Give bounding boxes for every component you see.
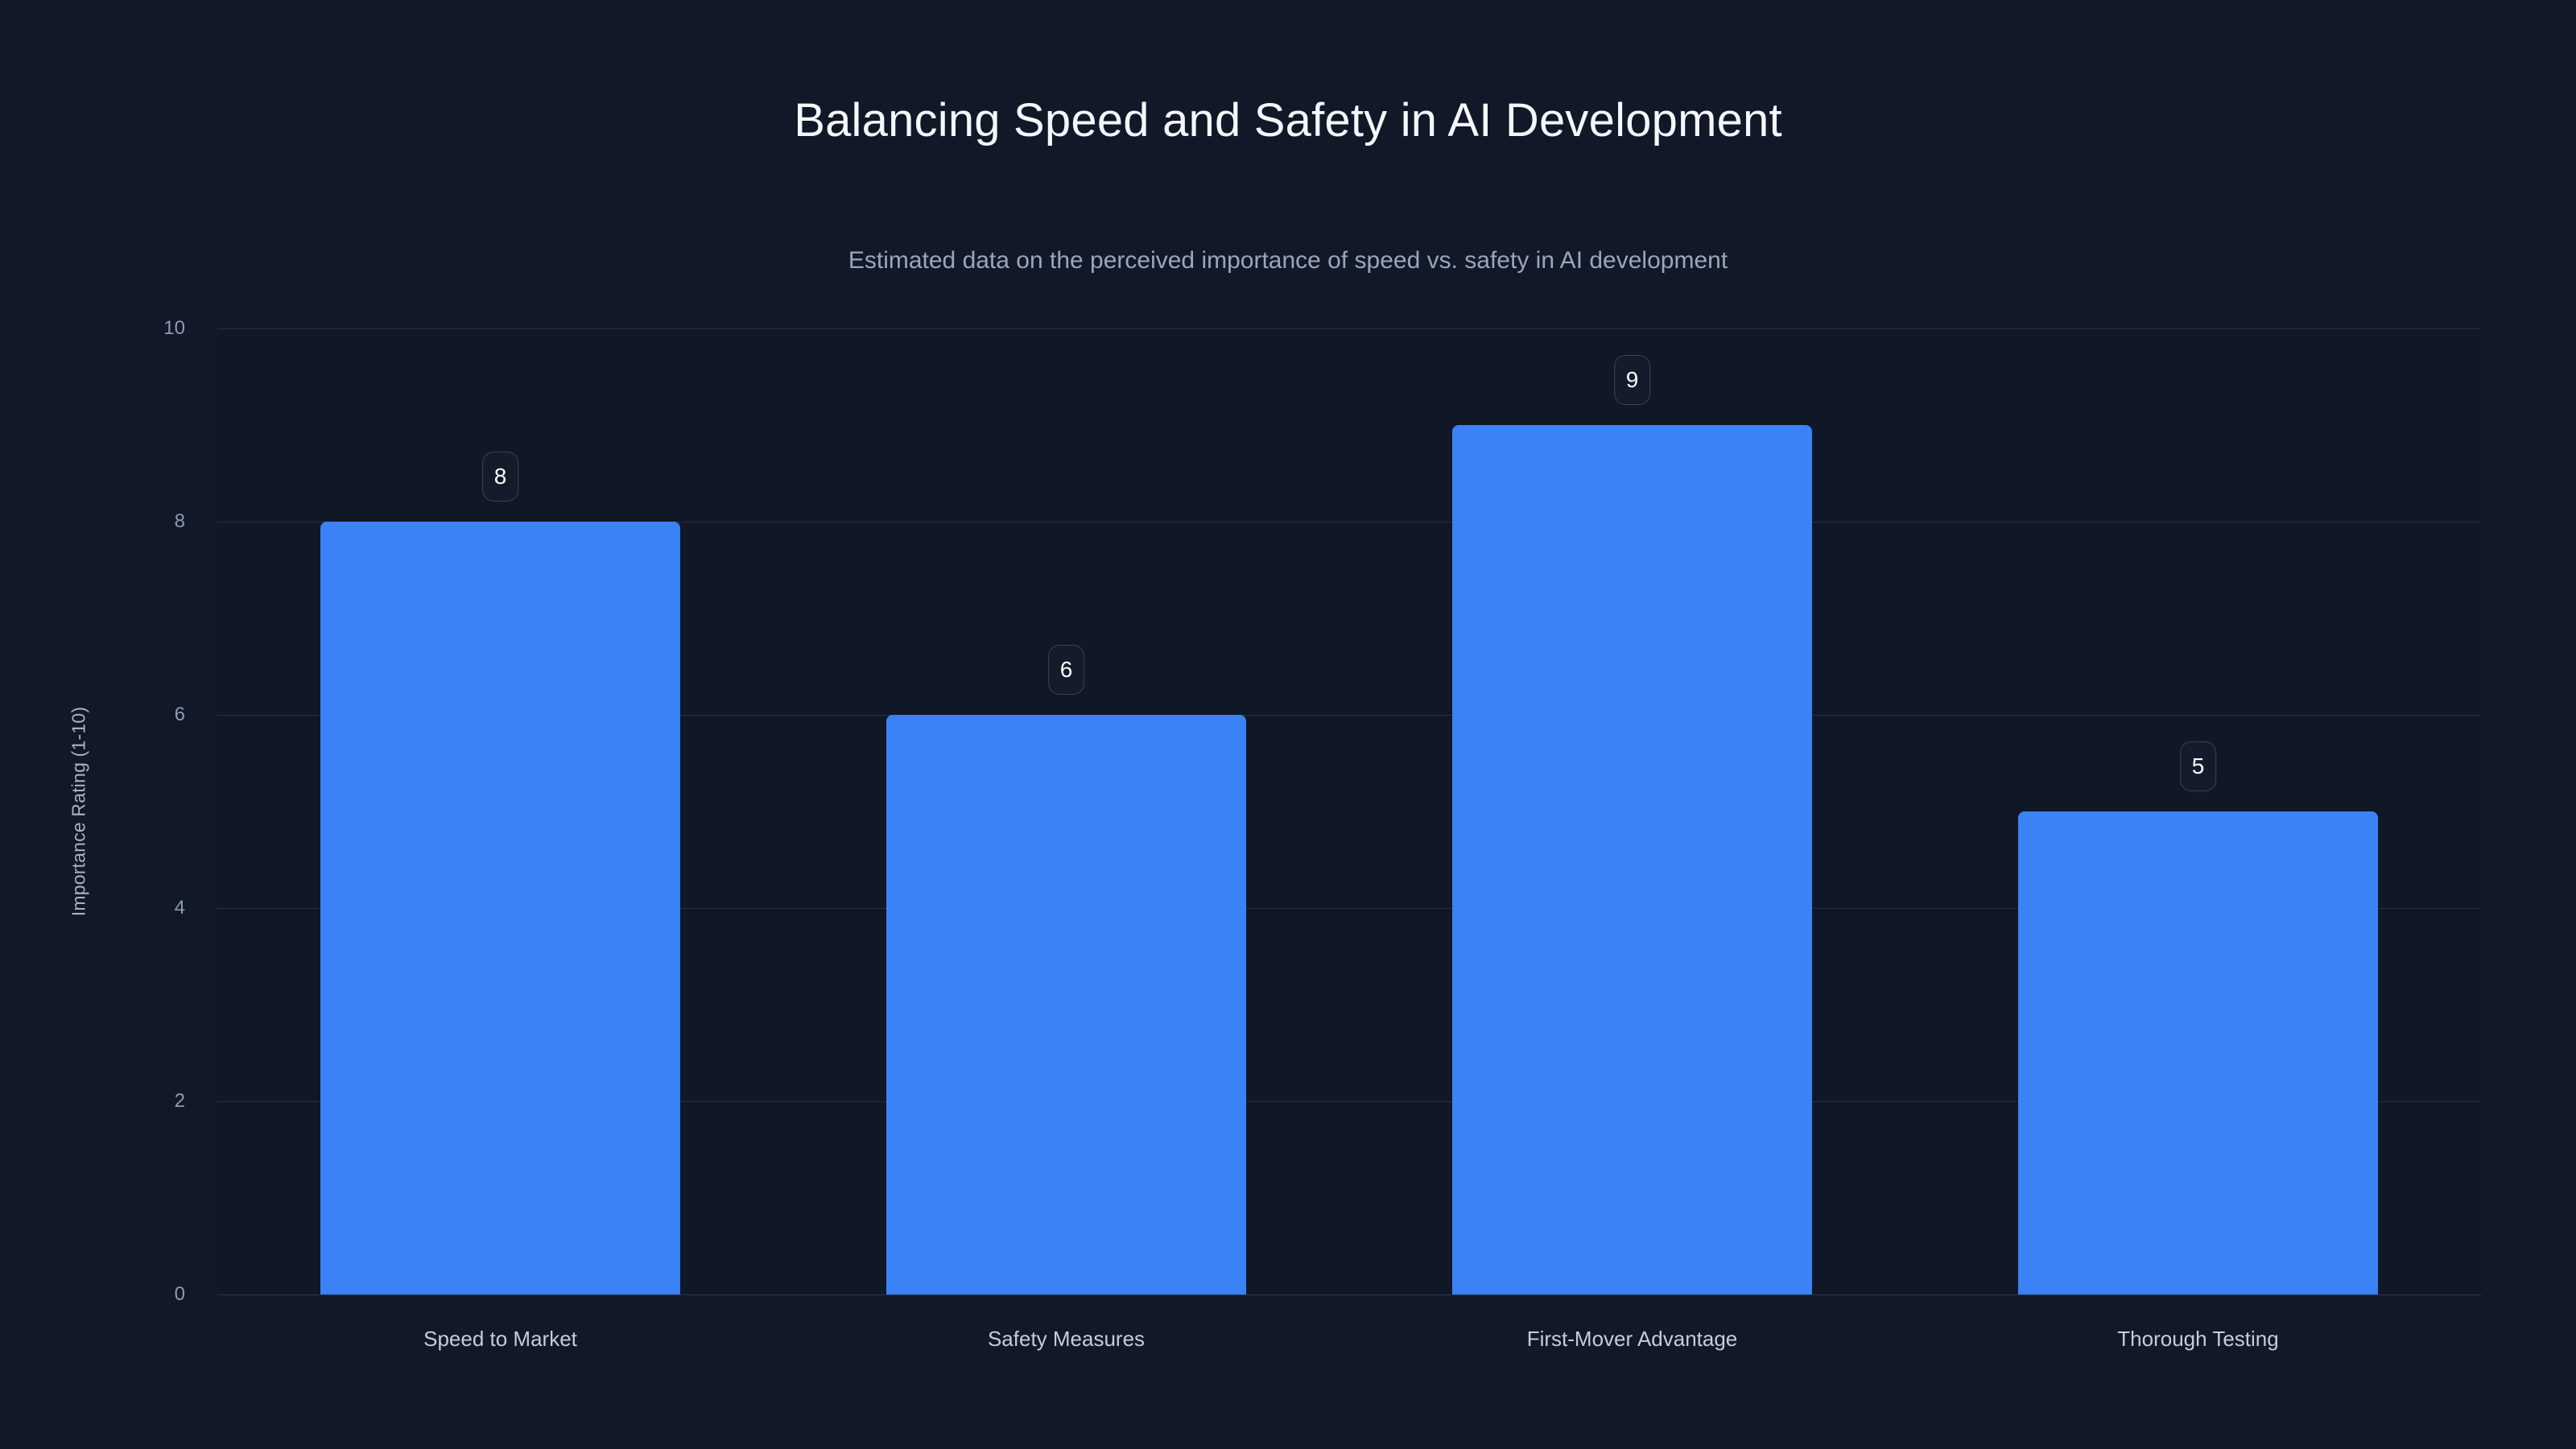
bar-series [217, 328, 2481, 1294]
chart-subtitle: Estimated data on the perceived importan… [0, 246, 2576, 275]
y-axis-tick-label: 4 [89, 897, 185, 919]
bar-value-badge: 9 [1614, 355, 1651, 405]
bar[interactable] [1452, 425, 1812, 1294]
chart-title: Balancing Speed and Safety in AI Develop… [0, 95, 2576, 147]
bar[interactable] [2018, 811, 2378, 1294]
y-axis-tick-label: 2 [89, 1090, 185, 1113]
y-axis-tick-label: 6 [89, 704, 185, 726]
gridline [217, 1294, 2481, 1295]
bar-value-badge: 5 [2180, 741, 2217, 791]
x-axis-tick-label: First-Mover Advantage [1527, 1327, 1738, 1352]
x-axis-tick-label: Thorough Testing [2117, 1327, 2278, 1352]
y-axis-tick-label: 8 [89, 510, 185, 533]
x-axis-tick-label: Speed to Market [423, 1327, 577, 1352]
bar-value-badge: 6 [1048, 645, 1085, 695]
y-axis-tick-label: 10 [89, 317, 185, 340]
y-axis-tick-label: 0 [89, 1283, 185, 1306]
bar[interactable] [320, 522, 680, 1294]
bar[interactable] [886, 715, 1246, 1294]
chart-page: Balancing Speed and Safety in AI Develop… [0, 0, 2576, 1449]
y-axis-title: Importance Rating (1-10) [68, 707, 90, 916]
bar-value-badge: 8 [482, 452, 519, 502]
x-axis-tick-label: Safety Measures [988, 1327, 1145, 1352]
